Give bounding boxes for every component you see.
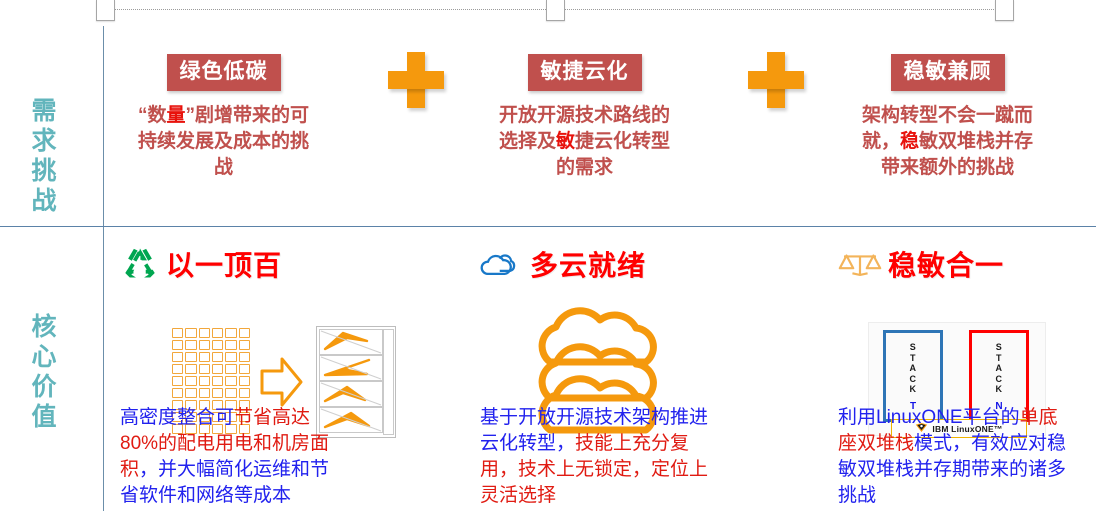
text-run-1: 稳 [900, 131, 919, 152]
challenge-card-1[interactable]: 敏捷云化 开放开源技术路线的选择及敏捷云化转型的需求 [497, 54, 672, 181]
row-label-value-c0: 核 [14, 312, 74, 342]
row-label-demand-c1: 求 [14, 126, 74, 156]
challenge-title-1: 敏捷云化 [528, 54, 642, 91]
text-run-0: “数 [138, 105, 167, 126]
row-label-demand-c0: 需 [14, 96, 74, 126]
text-run-1: 敏 [556, 131, 575, 152]
value-card-1[interactable]: 多云就绪 基于开放开源技术架构推进云化转型，技能上充分复用，技术上无锁定，定位上… [480, 244, 780, 288]
row-label-demand-c3: 战 [14, 186, 74, 216]
stack-t-l4: K [886, 384, 940, 395]
challenge-title-0: 绿色低碳 [167, 54, 281, 91]
text-run-0: 利用LinuxONE平台的 [838, 407, 1020, 428]
challenge-title-2: 稳敏兼顾 [891, 54, 1005, 91]
stack-t-l2: A [886, 363, 940, 374]
stack-n-l4: K [972, 384, 1026, 395]
horizontal-divider [0, 226, 1096, 227]
row-label-demand: 需 求 挑 战 [14, 96, 74, 216]
challenge-card-0[interactable]: 绿色低碳 “数量”剧增带来的可持续发展及成本的挑战 [136, 54, 311, 181]
stack-t-l0: S [886, 342, 940, 353]
row-label-value-c2: 价 [14, 372, 74, 402]
cloud-icon [480, 250, 524, 283]
slide-canvas: 需 求 挑 战 核 心 价 值 绿色低碳 “数量”剧增带来的可持续发展及成本的挑… [0, 0, 1096, 511]
text-run-1: 量 [166, 105, 185, 126]
row-label-value-c3: 值 [14, 402, 74, 432]
row-label-value-c1: 心 [14, 342, 74, 372]
text-run-0: 高密度整合可 [120, 407, 234, 428]
stack-t-l3: C [886, 374, 940, 385]
stack-box-n-word: S T A C K [972, 342, 1026, 395]
value-head-0: 以一顶百 [120, 244, 420, 288]
value-head-1: 多云就绪 [480, 244, 780, 288]
value-title-0: 以一顶百 [166, 250, 282, 282]
vertical-divider [103, 26, 104, 511]
recycle-icon [120, 246, 160, 287]
stack-n-l0: S [972, 342, 1026, 353]
challenge-body-0: “数量”剧增带来的可持续发展及成本的挑战 [136, 103, 311, 181]
stack-n-l3: C [972, 374, 1026, 385]
value-card-2[interactable]: 稳敏合一 S T A C K T S T [838, 244, 1096, 288]
balance-scale-icon [838, 248, 882, 285]
plus-icon-1 [388, 52, 444, 108]
challenge-body-1: 开放开源技术路线的选择及敏捷云化转型的需求 [497, 103, 672, 181]
guide-handle-right[interactable] [995, 0, 1014, 21]
value-card-0[interactable]: 以一顶百 [120, 244, 420, 288]
plus-icon-2 [748, 52, 804, 108]
guide-handle-left[interactable] [96, 0, 115, 21]
stack-n-l1: T [972, 353, 1026, 364]
top-guide-bar[interactable] [96, 0, 1012, 20]
value-desc-1: 基于开放开源技术架构推进云化转型，技能上充分复用，技术上无锁定，定位上灵活选择 [480, 405, 716, 509]
text-run-2: ，并大幅简化运维和节省软件和网络等成本 [120, 459, 329, 506]
row-label-demand-c2: 挑 [14, 156, 74, 186]
row-label-value: 核 心 价 值 [14, 312, 74, 432]
stack-n-l2: A [972, 363, 1026, 374]
value-title-1: 多云就绪 [530, 250, 646, 282]
stack-t-l1: T [886, 353, 940, 364]
stack-box-t-word: S T A C K [886, 342, 940, 395]
challenge-card-2[interactable]: 稳敏兼顾 架构转型不会一蹴而就，稳敏双堆栈并存带来额外的挑战 [860, 54, 1035, 181]
value-desc-0: 高密度整合可节省高达80%的配电用电和机房面积，并大幅简化运维和节省软件和网络等… [120, 405, 346, 509]
value-title-2: 稳敏合一 [888, 250, 1004, 282]
value-desc-2: 利用LinuxONE平台的单底座双堆栈模式，有效应对稳敏双堆栈并存期带来的诸多挑… [838, 405, 1070, 509]
challenge-body-2: 架构转型不会一蹴而就，稳敏双堆栈并存带来额外的挑战 [860, 103, 1035, 181]
value-head-2: 稳敏合一 [838, 244, 1096, 288]
guide-handle-middle[interactable] [546, 0, 565, 21]
